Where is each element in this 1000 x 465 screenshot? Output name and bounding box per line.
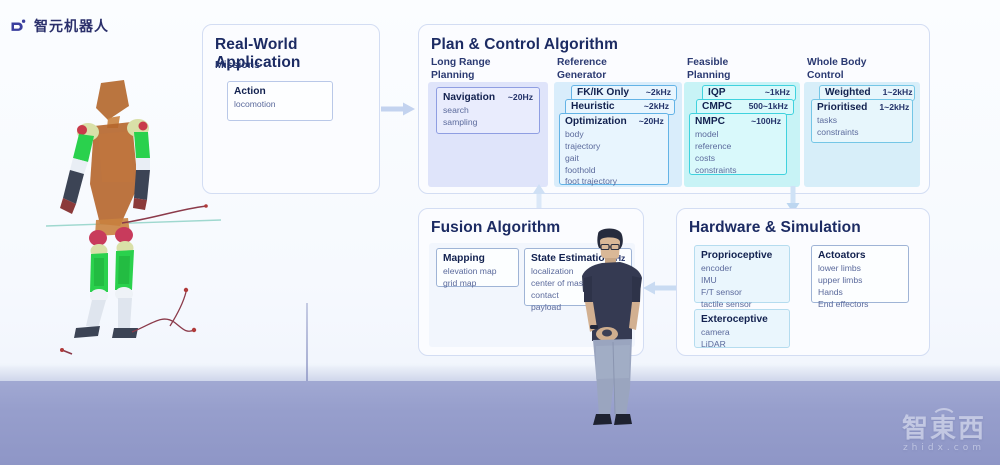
- card-exteroceptive[interactable]: Exteroceptive camera LiDAR: [694, 309, 790, 348]
- panel-real-world-application: Real-World Application Missions Action l…: [202, 24, 380, 194]
- card-item: model: [695, 129, 781, 141]
- col-head-line: Generator: [557, 70, 607, 83]
- card-optimization[interactable]: Optimization ~20Hz body trajectory gait …: [559, 113, 669, 185]
- arrow-realworld-to-plan: [381, 101, 417, 117]
- card-item: lower limbs: [818, 263, 902, 275]
- card-prioritised-header: Prioritised 1~2kHz: [817, 102, 907, 113]
- card-actoators-items: lower limbs upper limbs Hands End effect…: [818, 263, 902, 310]
- card-cmpc-freq: 500~1kHz: [737, 101, 788, 111]
- card-navigation[interactable]: Navigation ~20Hz search sampling: [436, 87, 540, 134]
- card-actoators-name: Actoators: [818, 250, 866, 261]
- card-heuristic-freq: ~2kHz: [632, 101, 669, 111]
- watermark: 智東西 zhidx.com: [902, 416, 986, 453]
- col-head-line: Planning: [431, 70, 491, 83]
- card-item: IMU: [701, 275, 783, 287]
- card-item: foot trajectory: [565, 176, 663, 188]
- card-item: costs: [695, 153, 781, 165]
- card-exteroceptive-items: camera LiDAR: [701, 327, 783, 351]
- agibot-logo-icon: [10, 18, 27, 35]
- panel-title-plan-control: Plan & Control Algorithm: [431, 36, 618, 54]
- card-iqp-name: IQP: [708, 87, 726, 98]
- col-head-line: Feasible: [687, 57, 730, 70]
- card-item: camera: [701, 327, 783, 339]
- panel-title-fusion: Fusion Algorithm: [431, 219, 560, 237]
- card-iqp-header: IQP ~1kHz: [708, 87, 790, 98]
- brand-logo: 智元机器人: [10, 16, 109, 36]
- panel-title-hardware: Hardware & Simulation: [689, 219, 861, 237]
- card-iqp-freq: ~1kHz: [753, 87, 790, 97]
- watermark-cn: 智東西: [902, 416, 986, 443]
- presenter-person: [572, 228, 658, 432]
- card-optimization-items: body trajectory gait foothold foot traje…: [565, 129, 663, 188]
- card-mapping-header: Mapping: [443, 253, 512, 264]
- column-head-feasible-planning: Feasible Planning: [687, 57, 730, 82]
- card-nmpc-header: NMPC ~100Hz: [695, 116, 781, 127]
- card-actoators[interactable]: Actoators lower limbs upper limbs Hands …: [811, 245, 909, 303]
- col-head-line: Control: [807, 70, 867, 83]
- card-prioritised-freq: 1~2kHz: [867, 102, 909, 112]
- card-proprioceptive-header: Proprioceptive: [701, 250, 783, 261]
- col-head-line: Long Range: [431, 57, 491, 70]
- card-mapping-name: Mapping: [443, 253, 485, 264]
- card-cmpc-header: CMPC 500~1kHz: [702, 101, 788, 112]
- card-nmpc-freq: ~100Hz: [739, 116, 781, 126]
- card-item: body: [565, 129, 663, 141]
- card-fk-ik-only-name: FK/IK Only: [577, 87, 629, 98]
- card-action[interactable]: Action locomotion: [227, 81, 333, 121]
- card-actoators-header: Actoators: [818, 250, 902, 261]
- card-weighted-freq: 1~2kHz: [871, 87, 913, 97]
- col-head-line: Planning: [687, 70, 730, 83]
- col-head-line: Reference: [557, 57, 607, 70]
- card-item: Hands: [818, 287, 902, 299]
- card-item: upper limbs: [818, 275, 902, 287]
- column-head-whole-body-control: Whole Body Control: [807, 57, 867, 82]
- card-item: F/T sensor: [701, 287, 783, 299]
- column-head-reference-generator: Reference Generator: [557, 57, 607, 82]
- card-exteroceptive-name: Exteroceptive: [701, 314, 768, 325]
- card-nmpc-name: NMPC: [695, 116, 725, 127]
- card-item: trajectory: [565, 141, 663, 153]
- card-proprioceptive-name: Proprioceptive: [701, 250, 772, 261]
- card-prioritised-name: Prioritised: [817, 102, 867, 113]
- card-item: search: [443, 105, 533, 117]
- stage-floor: [0, 381, 1000, 465]
- card-fk-ik-only-header: FK/IK Only ~2kHz: [577, 87, 671, 98]
- card-item: tasks: [817, 115, 907, 127]
- watermark-en: zhidx.com: [902, 443, 986, 453]
- card-item: elevation map: [443, 266, 512, 278]
- card-item: gait: [565, 153, 663, 165]
- brand-name: 智元机器人: [34, 16, 109, 36]
- card-cmpc-name: CMPC: [702, 101, 732, 112]
- card-item: reference: [695, 141, 781, 153]
- card-prioritised[interactable]: Prioritised 1~2kHz tasks constraints: [811, 99, 913, 143]
- card-item: foothold: [565, 165, 663, 177]
- card-item: constraints: [817, 127, 907, 139]
- card-action-item: locomotion: [234, 99, 326, 111]
- card-navigation-name: Navigation: [443, 92, 495, 103]
- card-navigation-header: Navigation ~20Hz: [443, 92, 533, 103]
- card-heuristic-name: Heuristic: [571, 101, 615, 112]
- card-optimization-header: Optimization ~20Hz: [565, 116, 663, 127]
- panel-plan-control-algorithm: Plan & Control Algorithm Long Range Plan…: [418, 24, 930, 194]
- mic-stand: [306, 303, 308, 381]
- card-action-items: locomotion: [234, 99, 326, 111]
- card-item: sampling: [443, 117, 533, 129]
- card-weighted-name: Weighted: [825, 87, 871, 98]
- card-navigation-freq: ~20Hz: [496, 92, 533, 102]
- card-item: encoder: [701, 263, 783, 275]
- column-head-long-range-planning: Long Range Planning: [431, 57, 491, 82]
- card-nmpc[interactable]: NMPC ~100Hz model reference costs constr…: [689, 113, 787, 175]
- card-nmpc-items: model reference costs constraints: [695, 129, 781, 176]
- card-mapping-items: elevation map grid map: [443, 266, 512, 290]
- card-item: End effectors: [818, 299, 902, 311]
- card-mapping[interactable]: Mapping elevation map grid map: [436, 248, 519, 287]
- card-item: grid map: [443, 278, 512, 290]
- card-proprioceptive-items: encoder IMU F/T sensor tactile sensor: [701, 263, 783, 310]
- card-navigation-items: search sampling: [443, 105, 533, 129]
- card-exteroceptive-header: Exteroceptive: [701, 314, 783, 325]
- card-heuristic-header: Heuristic ~2kHz: [571, 101, 669, 112]
- card-weighted-header: Weighted 1~2kHz: [825, 87, 909, 98]
- card-optimization-freq: ~20Hz: [627, 116, 664, 126]
- card-optimization-name: Optimization: [565, 116, 627, 127]
- card-prioritised-items: tasks constraints: [817, 115, 907, 139]
- card-proprioceptive[interactable]: Proprioceptive encoder IMU F/T sensor ta…: [694, 245, 790, 303]
- card-action-header: Action: [234, 86, 326, 97]
- panel-hardware-simulation: Hardware & Simulation Proprioceptive enc…: [676, 208, 930, 356]
- card-item: constraints: [695, 165, 781, 177]
- card-item: LiDAR: [701, 339, 783, 351]
- panel-subtitle-missions: Missions: [215, 59, 260, 71]
- card-action-name: Action: [234, 86, 266, 97]
- col-head-line: Whole Body: [807, 57, 867, 70]
- card-fk-ik-only-freq: ~2kHz: [634, 87, 671, 97]
